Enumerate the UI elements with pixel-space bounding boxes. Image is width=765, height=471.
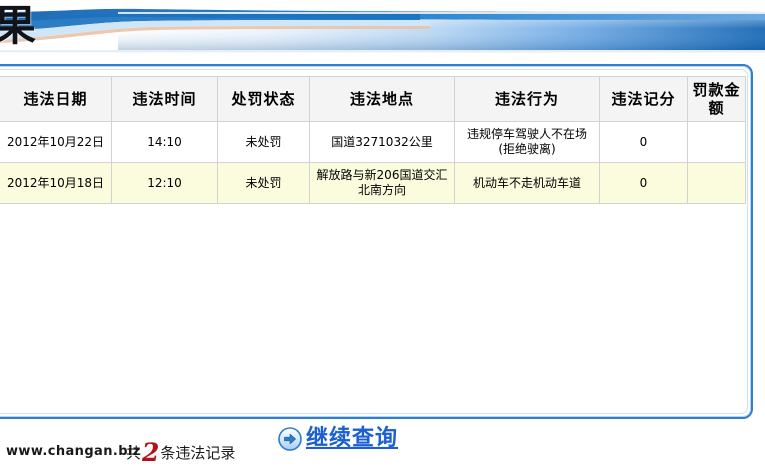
continue-query-label: 继续查询 <box>306 426 398 452</box>
cell-place: 国道3271032公里 <box>310 122 455 163</box>
violation-table-container: 违法日期 违法时间 处罚状态 违法地点 违法行为 违法记分 罚款金额 2012年… <box>0 76 746 204</box>
column-header-act: 违法行为 <box>455 77 600 122</box>
record-count-text: 共2条违法记录 <box>126 442 235 464</box>
cell-fine <box>688 122 746 163</box>
cell-place: 解放路与新206国道交汇北南方向 <box>310 163 455 204</box>
column-header-date: 违法日期 <box>0 77 112 122</box>
cell-score: 0 <box>600 122 688 163</box>
page-banner: 果 <box>0 0 765 62</box>
cell-time: 12:10 <box>112 163 218 204</box>
cell-status: 未处罚 <box>218 122 310 163</box>
page-title: 果 <box>0 2 36 50</box>
record-count-number: 2 <box>141 438 160 467</box>
column-header-score: 违法记分 <box>600 77 688 122</box>
cell-date: 2012年10月18日 <box>0 163 112 204</box>
column-header-time: 违法时间 <box>112 77 218 122</box>
column-header-place: 违法地点 <box>310 77 455 122</box>
record-count-prefix: 共 <box>126 444 141 462</box>
column-header-status: 处罚状态 <box>218 77 310 122</box>
banner-wave-graphic <box>0 0 765 62</box>
record-count-suffix: 条违法记录 <box>160 444 235 462</box>
violation-table: 违法日期 违法时间 处罚状态 违法地点 违法行为 违法记分 罚款金额 2012年… <box>0 76 746 204</box>
cell-date: 2012年10月22日 <box>0 122 112 163</box>
cell-score: 0 <box>600 163 688 204</box>
continue-query-button[interactable]: 继续查询 <box>278 426 398 452</box>
cell-act: 机动车不走机动车道 <box>455 163 600 204</box>
cell-time: 14:10 <box>112 122 218 163</box>
table-row[interactable]: 2012年10月18日 12:10 未处罚 解放路与新206国道交汇北南方向 机… <box>0 163 746 204</box>
table-row[interactable]: 2012年10月22日 14:10 未处罚 国道3271032公里 违规停车驾驶… <box>0 122 746 163</box>
cell-act: 违规停车驾驶人不在场 (拒绝驶离) <box>455 122 600 163</box>
cell-fine <box>688 163 746 204</box>
table-header-row: 违法日期 违法时间 处罚状态 违法地点 违法行为 违法记分 罚款金额 <box>0 77 746 122</box>
cell-status: 未处罚 <box>218 163 310 204</box>
column-header-fine: 罚款金额 <box>688 77 746 122</box>
arrow-right-circle-icon <box>278 427 302 451</box>
site-watermark: www.changan.biz <box>6 444 141 459</box>
